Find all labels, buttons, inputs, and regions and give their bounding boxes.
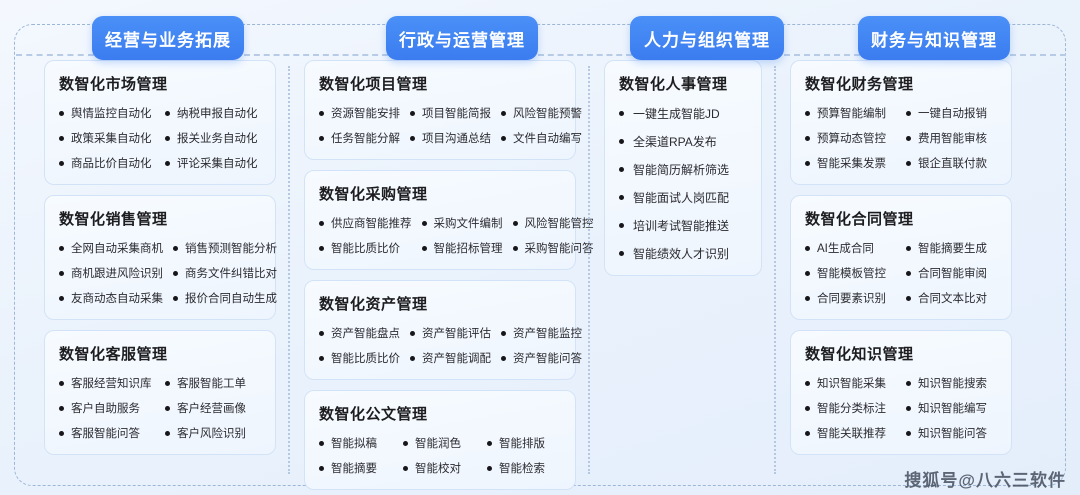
card[interactable]: 数智化采购管理供应商智能推荐采购文件编制风险智能管控智能比质比价智能招标管理采购… [304,170,576,270]
bullet-icon [319,441,324,446]
bullet-icon [319,111,324,116]
bullet-icon [906,381,911,386]
card-item[interactable]: 采购文件编制 [422,215,503,231]
card-item[interactable]: 预算动态管控 [805,130,896,146]
card-item-label: 知识智能采集 [817,375,886,391]
card-item[interactable]: 评论采集自动化 [165,155,261,171]
card-item-label: 资产智能问答 [513,350,582,366]
card[interactable]: 数智化销售管理全网自动采集商机销售预测智能分析商机跟进风险识别商务文件纠错比对友… [44,195,276,320]
card-item[interactable]: 智能检索 [487,460,561,476]
card-item[interactable]: 智能采集发票 [805,155,896,171]
card-title: 数智化知识管理 [805,343,997,364]
card-item-label: 合同要素识别 [817,290,886,306]
bullet-icon [410,136,415,141]
card-item[interactable]: 文件自动编写 [501,130,582,146]
card-item-label: 客户经营画像 [177,400,246,416]
bullet-icon [906,431,911,436]
card[interactable]: 数智化市场管理舆情监控自动化纳税申报自动化政策采集自动化报关业务自动化商品比价自… [44,60,276,185]
bullet-icon [59,296,64,301]
card-item-label: 智能拟稿 [331,435,377,451]
card-item[interactable]: 费用智能审核 [906,130,997,146]
card-item-label: 客户自助服务 [71,400,140,416]
bullet-icon [173,296,178,301]
column-business-development: 数智化市场管理舆情监控自动化纳税申报自动化政策采集自动化报关业务自动化商品比价自… [30,60,290,476]
card-item[interactable]: 项目智能简报 [410,105,491,121]
card-item[interactable]: 报价合同自动生成 [173,290,277,306]
card-item-list: 客服经营知识库客服智能工单客户自助服务客户经营画像客服智能问答客户风险识别 [59,375,261,441]
card-item[interactable]: 资产智能监控 [501,325,582,341]
card-item[interactable]: 客户经营画像 [165,400,261,416]
card-item[interactable]: 风险智能预警 [501,105,582,121]
card-item-label: 项目智能简报 [422,105,491,121]
card-item[interactable]: 合同文本比对 [906,290,997,306]
card-item-label: 智能检索 [499,460,545,476]
card-item-list: 智能拟稿智能润色智能排版智能摘要智能校对智能检索 [319,435,561,476]
card-item-label: 智能排版 [499,435,545,451]
bullet-icon [319,466,324,471]
card-item[interactable]: 智能简历解析筛选 [619,161,747,178]
card-title: 数智化客服管理 [59,343,261,364]
card-item-label: 舆情监控自动化 [71,105,152,121]
card-item-label: 供应商智能推荐 [331,215,412,231]
card-item[interactable]: 知识智能问答 [906,425,997,441]
card-item-label: 银企直联付款 [918,155,987,171]
bullet-icon [513,246,518,251]
bullet-icon [906,246,911,251]
bullet-icon [906,271,911,276]
card-item-label: 报关业务自动化 [177,130,258,146]
card[interactable]: 数智化知识管理知识智能采集知识智能搜索智能分类标注知识智能编写智能关联推荐知识智… [790,330,1012,455]
bullet-icon [805,246,810,251]
card-item[interactable]: 项目沟通总结 [410,130,491,146]
card-item-label: 任务智能分解 [331,130,400,146]
bullet-icon [619,167,624,172]
card-item-list: 资产智能盘点资产智能评估资产智能监控智能比质比价资产智能调配资产智能问答 [319,325,561,366]
bullet-icon [59,271,64,276]
card-item-label: 费用智能审核 [918,130,987,146]
bullet-icon [403,441,408,446]
card-item[interactable]: 资源智能安排 [319,105,400,121]
connector-line [16,54,94,56]
card-item[interactable]: 任务智能分解 [319,130,400,146]
card-item[interactable]: 智能摘要 [319,460,393,476]
bullet-icon [319,246,324,251]
card-item[interactable]: 合同要素识别 [805,290,896,306]
bullet-icon [59,136,64,141]
bullet-icon [319,136,324,141]
bullet-icon [513,221,518,226]
card-item-label: 销售预测智能分析 [185,240,277,256]
card-item-label: 智能绩效人才识别 [633,245,729,262]
card-item-label: 客服智能问答 [71,425,140,441]
card-item-label: 培训考试智能推送 [633,217,729,234]
bullet-icon [173,271,178,276]
card-item-label: 智能比质比价 [331,350,400,366]
card-item-label: 商务文件纠错比对 [185,265,277,281]
card-item[interactable]: 智能拟稿 [319,435,393,451]
bullet-icon [165,136,170,141]
bullet-icon [501,356,506,361]
bullet-icon [906,406,911,411]
card-item[interactable]: 知识智能搜索 [906,375,997,391]
card-item-label: 纳税申报自动化 [177,105,258,121]
card-item-label: 项目沟通总结 [422,130,491,146]
bullet-icon [619,111,624,116]
card-item-label: 智能摘要生成 [918,240,987,256]
card-item-label: 一键生成智能JD [633,105,720,122]
card-item-label: 一键自动报销 [918,105,987,121]
card-title: 数智化销售管理 [59,208,261,229]
bullet-icon [59,111,64,116]
card-item[interactable]: 预算智能编制 [805,105,896,121]
card-title: 数智化资产管理 [319,293,561,314]
bullet-icon [165,111,170,116]
card-item[interactable]: 风险智能管控 [513,215,594,231]
card-item[interactable]: 智能比质比价 [319,240,412,256]
connector-line [244,54,388,56]
card-item-label: 采购文件编制 [434,215,503,231]
card-item[interactable]: 政策采集自动化 [59,130,155,146]
card-title: 数智化项目管理 [319,73,561,94]
bullet-icon [906,111,911,116]
card-item-label: 资产智能盘点 [331,325,400,341]
watermark: 搜狐号@八六三软件 [904,466,1066,491]
bullet-icon [805,406,810,411]
card-item-label: 客户风险识别 [177,425,246,441]
bullet-icon [487,441,492,446]
card-item[interactable]: 报关业务自动化 [165,130,261,146]
card-title: 数智化财务管理 [805,73,997,94]
card-item[interactable]: 客户自助服务 [59,400,155,416]
column-administration-operations: 数智化项目管理资源智能安排项目智能简报风险智能预警任务智能分解项目沟通总结文件自… [290,60,590,476]
card-item-label: AI生成合同 [817,240,874,256]
card-item[interactable]: 智能摘要生成 [906,240,997,256]
card-item[interactable]: AI生成合同 [805,240,896,256]
card-item[interactable]: 智能校对 [403,460,477,476]
column-finance-knowledge: 数智化财务管理预算智能编制一键自动报销预算动态管控费用智能审核智能采集发票银企直… [776,60,1026,476]
card-item[interactable]: 智能润色 [403,435,477,451]
card-item-list: 舆情监控自动化纳税申报自动化政策采集自动化报关业务自动化商品比价自动化评论采集自… [59,105,261,171]
connector-line [784,54,860,56]
bullet-icon [501,136,506,141]
category-columns: 数智化市场管理舆情监控自动化纳税申报自动化政策采集自动化报关业务自动化商品比价自… [14,24,1066,486]
bullet-icon [165,381,170,386]
connector-line [1010,54,1066,56]
category-pill-human-resources[interactable]: 人力与组织管理 [630,16,784,60]
card[interactable]: 数智化客服管理客服经营知识库客服智能工单客户自助服务客户经营画像客服智能问答客户… [44,330,276,455]
card-item[interactable]: 全渠道RPA发布 [619,133,747,150]
connector-line [538,54,632,56]
card-item[interactable]: 采购智能问答 [513,240,594,256]
card-item-label: 客服智能工单 [177,375,246,391]
card-title: 数智化市场管理 [59,73,261,94]
card[interactable]: 数智化人事管理一键生成智能JD全渠道RPA发布智能简历解析筛选智能面试人岗匹配培… [604,60,762,276]
card-item-list: 全网自动采集商机销售预测智能分析商机跟进风险识别商务文件纠错比对友商动态自动采集… [59,240,261,306]
category-pill-administration-operations[interactable]: 行政与运营管理 [386,16,538,60]
card-item-label: 智能简历解析筛选 [633,161,729,178]
bullet-icon [805,431,810,436]
bullet-icon [906,136,911,141]
card-title: 数智化采购管理 [319,183,561,204]
card-item-label: 资产智能监控 [513,325,582,341]
card-title: 数智化公文管理 [319,403,561,424]
bullet-icon [487,466,492,471]
card-item[interactable]: 智能绩效人才识别 [619,245,747,262]
card-item-label: 商品比价自动化 [71,155,152,171]
bullet-icon [501,111,506,116]
card-item-label: 风险智能管控 [525,215,594,231]
card-item[interactable]: 智能关联推荐 [805,425,896,441]
card-item[interactable]: 客服智能工单 [165,375,261,391]
card-item[interactable]: 客服智能问答 [59,425,155,441]
card-item-label: 智能模板管控 [817,265,886,281]
card-item[interactable]: 商机跟进风险识别 [59,265,163,281]
bullet-icon [165,431,170,436]
card-item[interactable]: 智能分类标注 [805,400,896,416]
bullet-icon [165,161,170,166]
card[interactable]: 数智化项目管理资源智能安排项目智能简报风险智能预警任务智能分解项目沟通总结文件自… [304,60,576,160]
card-item-label: 商机跟进风险识别 [71,265,163,281]
card-item-list: AI生成合同智能摘要生成智能模板管控合同智能审阅合同要素识别合同文本比对 [805,240,997,306]
card-item-label: 全渠道RPA发布 [633,133,717,150]
card-item-label: 预算智能编制 [817,105,886,121]
bullet-icon [319,331,324,336]
card-item[interactable]: 友商动态自动采集 [59,290,163,306]
card-item-label: 知识智能问答 [918,425,987,441]
bullet-icon [501,331,506,336]
card-item-label: 智能润色 [415,435,461,451]
category-pill-business-development[interactable]: 经营与业务拓展 [92,16,244,60]
card-item-label: 客服经营知识库 [71,375,152,391]
bullet-icon [59,406,64,411]
bullet-icon [906,161,911,166]
bullet-icon [422,221,427,226]
card-item-label: 合同文本比对 [918,290,987,306]
card-item[interactable]: 资产智能评估 [410,325,491,341]
card[interactable]: 数智化合同管理AI生成合同智能摘要生成智能模板管控合同智能审阅合同要素识别合同文… [790,195,1012,320]
card-item[interactable]: 一键生成智能JD [619,105,747,122]
card-item[interactable]: 客服经营知识库 [59,375,155,391]
card-item[interactable]: 商务文件纠错比对 [173,265,277,281]
card-item-label: 合同智能审阅 [918,265,987,281]
card-item-list: 预算智能编制一键自动报销预算动态管控费用智能审核智能采集发票银企直联付款 [805,105,997,171]
card-item[interactable]: 销售预测智能分析 [173,240,277,256]
card-item[interactable]: 知识智能采集 [805,375,896,391]
card-title: 数智化合同管理 [805,208,997,229]
card-item-label: 政策采集自动化 [71,130,152,146]
card-item-list: 一键生成智能JD全渠道RPA发布智能简历解析筛选智能面试人岗匹配培训考试智能推送… [619,105,747,262]
bullet-icon [906,296,911,301]
bullet-icon [805,296,810,301]
bullet-icon [619,251,624,256]
bullet-icon [805,381,810,386]
card-item[interactable]: 智能排版 [487,435,561,451]
card-item-label: 智能关联推荐 [817,425,886,441]
bullet-icon [805,111,810,116]
category-pill-finance-knowledge[interactable]: 财务与知识管理 [858,16,1010,60]
bullet-icon [59,161,64,166]
card-item-label: 知识智能编写 [918,400,987,416]
bullet-icon [59,431,64,436]
card-item[interactable]: 供应商智能推荐 [319,215,412,231]
bullet-icon [422,246,427,251]
card-item-label: 智能面试人岗匹配 [633,189,729,206]
bullet-icon [319,356,324,361]
bullet-icon [403,466,408,471]
card-item-label: 智能比质比价 [331,240,400,256]
category-pill-row: 经营与业务拓展 行政与运营管理 人力与组织管理 财务与知识管理 [0,16,1080,60]
card-item-label: 智能校对 [415,460,461,476]
card-item-list: 供应商智能推荐采购文件编制风险智能管控智能比质比价智能招标管理采购智能问答 [319,215,561,256]
card-item[interactable]: 资产智能盘点 [319,325,400,341]
card-item[interactable]: 智能模板管控 [805,265,896,281]
card[interactable]: 数智化财务管理预算智能编制一键自动报销预算动态管控费用智能审核智能采集发票银企直… [790,60,1012,185]
card-item[interactable]: 一键自动报销 [906,105,997,121]
bullet-icon [805,136,810,141]
card-item-label: 资产智能评估 [422,325,491,341]
card-title: 数智化人事管理 [619,73,747,94]
card-item-label: 报价合同自动生成 [185,290,277,306]
card-item-label: 智能分类标注 [817,400,886,416]
card-item-label: 资产智能调配 [422,350,491,366]
bullet-icon [410,111,415,116]
card-item[interactable]: 银企直联付款 [906,155,997,171]
bullet-icon [165,406,170,411]
card-item[interactable]: 知识智能编写 [906,400,997,416]
card-item-label: 友商动态自动采集 [71,290,163,306]
card-item-label: 采购智能问答 [525,240,594,256]
card-item-label: 智能摘要 [331,460,377,476]
bullet-icon [59,381,64,386]
card-item-label: 知识智能搜索 [918,375,987,391]
card-item[interactable]: 全网自动采集商机 [59,240,163,256]
card-item[interactable]: 资产智能问答 [501,350,582,366]
card-item[interactable]: 舆情监控自动化 [59,105,155,121]
card-item-label: 全网自动采集商机 [71,240,163,256]
bullet-icon [619,223,624,228]
bullet-icon [805,161,810,166]
bullet-icon [619,195,624,200]
card-item[interactable]: 客户风险识别 [165,425,261,441]
card-item-label: 文件自动编写 [513,130,582,146]
card[interactable]: 数智化公文管理智能拟稿智能润色智能排版智能摘要智能校对智能检索 [304,390,576,490]
card-item-label: 预算动态管控 [817,130,886,146]
bullet-icon [319,221,324,226]
card-item[interactable]: 智能比质比价 [319,350,400,366]
card-item[interactable]: 商品比价自动化 [59,155,155,171]
bullet-icon [805,271,810,276]
card-item-list: 资源智能安排项目智能简报风险智能预警任务智能分解项目沟通总结文件自动编写 [319,105,561,146]
column-human-resources: 数智化人事管理一键生成智能JD全渠道RPA发布智能简历解析筛选智能面试人岗匹配培… [590,60,776,476]
card-item-label: 智能招标管理 [434,240,503,256]
bullet-icon [59,246,64,251]
card-item-list: 知识智能采集知识智能搜索智能分类标注知识智能编写智能关联推荐知识智能问答 [805,375,997,441]
card-item-label: 资源智能安排 [331,105,400,121]
card[interactable]: 数智化资产管理资产智能盘点资产智能评估资产智能监控智能比质比价资产智能调配资产智… [304,280,576,380]
card-item-label: 风险智能预警 [513,105,582,121]
bullet-icon [410,356,415,361]
card-item[interactable]: 智能面试人岗匹配 [619,189,747,206]
card-item-label: 智能采集发票 [817,155,886,171]
bullet-icon [619,139,624,144]
card-item[interactable]: 资产智能调配 [410,350,491,366]
card-item[interactable]: 智能招标管理 [422,240,503,256]
bullet-icon [410,331,415,336]
card-item[interactable]: 纳税申报自动化 [165,105,261,121]
card-item[interactable]: 合同智能审阅 [906,265,997,281]
card-item-label: 评论采集自动化 [177,155,258,171]
bullet-icon [173,246,178,251]
card-item[interactable]: 培训考试智能推送 [619,217,747,234]
